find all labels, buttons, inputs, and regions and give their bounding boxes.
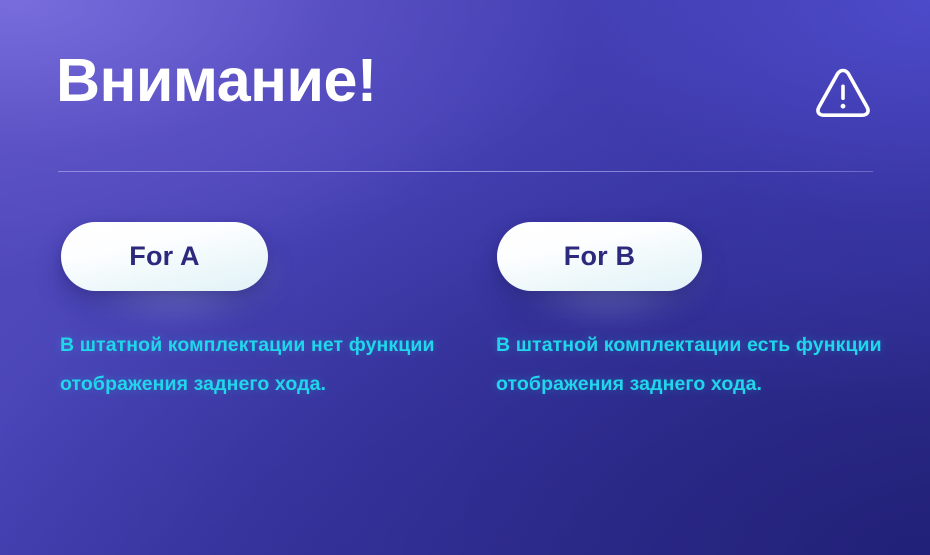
page-title: Внимание! bbox=[56, 48, 377, 112]
warning-triangle-icon bbox=[812, 64, 874, 124]
content-columns: For A В штатной комплектации нет функции… bbox=[0, 200, 930, 500]
button-a-wrap: For A bbox=[58, 200, 458, 292]
for-a-button[interactable]: For A bbox=[61, 222, 268, 291]
column-for-b: For B В штатной комплектации есть функци… bbox=[494, 200, 894, 292]
for-b-button-label: For B bbox=[564, 243, 636, 270]
slide-header: Внимание! bbox=[0, 0, 930, 172]
button-b-wrap: For B bbox=[494, 200, 894, 292]
for-b-description: В штатной комплектации есть функции отоб… bbox=[496, 326, 888, 405]
for-b-button[interactable]: For B bbox=[497, 222, 702, 291]
warning-slide: Внимание! For A В штатной комплектации н… bbox=[0, 0, 930, 555]
for-a-button-label: For A bbox=[129, 243, 200, 270]
for-a-description: В штатной комплектации нет функции отобр… bbox=[60, 326, 450, 405]
column-for-a: For A В штатной комплектации нет функции… bbox=[58, 200, 458, 292]
header-divider bbox=[58, 171, 873, 172]
